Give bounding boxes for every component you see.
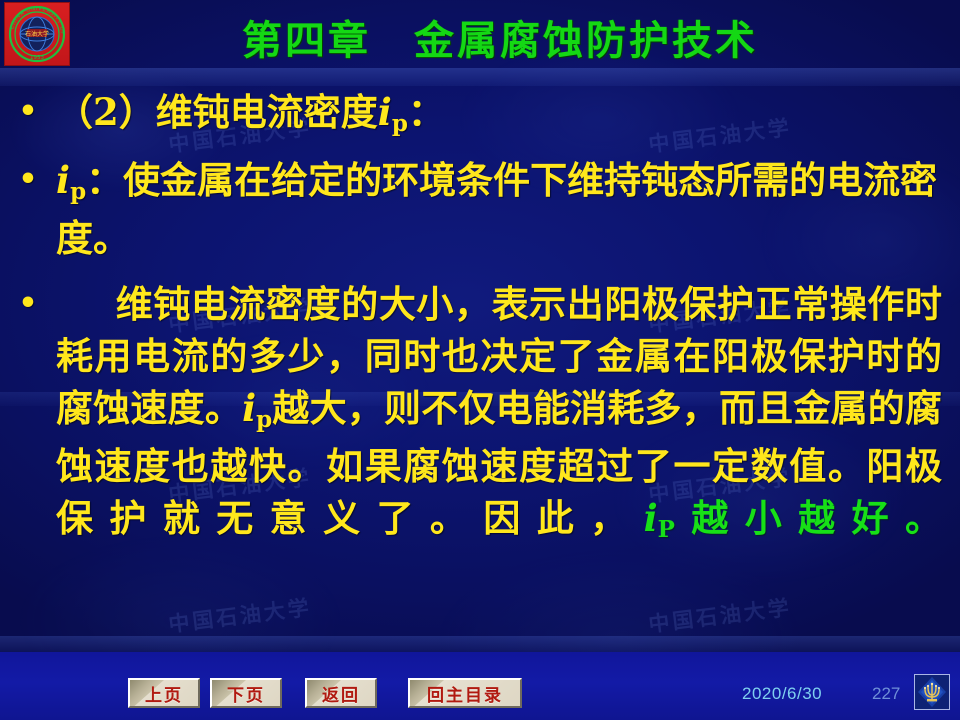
- footer-date: 2020/6/30: [742, 684, 822, 704]
- nav-previous-page-label: 上页: [145, 681, 183, 706]
- slide-body: • （2）维钝电流密度ip： • ip：使金属在给定的环境条件下维持钝态所需的电…: [0, 82, 960, 550]
- bullet-2-colon: ：: [86, 158, 123, 202]
- symbol-ip-1: ip: [378, 90, 408, 134]
- bullet-item-3: • 维钝电流密度的大小，表示出阳极保护正常操作时耗用电流的多少，同时也决定了金属…: [0, 278, 960, 550]
- bullet-marker: •: [0, 154, 56, 206]
- nav-next-page-button[interactable]: 下页: [210, 678, 282, 708]
- bullet-1-suffix: ：: [408, 90, 445, 134]
- bullet-1-prefix: （2）维钝电流密度: [56, 90, 378, 134]
- nav-main-menu-button[interactable]: 回主目录: [408, 678, 522, 708]
- slide-canvas: 中国石油大学 中国石油大学 中国石油大学 中国石油大学 中国石油大学 中国石油大…: [0, 0, 960, 720]
- nav-next-page-label: 下页: [227, 681, 265, 706]
- symbol-i: i: [56, 158, 70, 202]
- symbol-subscript: p: [392, 110, 408, 137]
- nav-main-menu-label: 回主目录: [427, 681, 503, 706]
- bullet-text-1: （2）维钝电流密度ip：: [56, 86, 960, 144]
- symbol-i: i: [644, 496, 658, 540]
- bullet-text-3: 维钝电流密度的大小，表示出阳极保护正常操作时耗用电流的多少，同时也决定了金属在阳…: [56, 278, 960, 550]
- symbol-subscript: p: [256, 406, 272, 433]
- bullet-2-body: 使金属在给定的环境条件下维持钝态所需的电流密度。: [56, 158, 937, 260]
- symbol-subscript: p: [70, 178, 86, 205]
- bullet-item-2: • ip：使金属在给定的环境条件下维持钝态所需的电流密度。: [0, 154, 960, 264]
- footer-page-number: 227: [872, 684, 900, 704]
- nav-previous-page-button[interactable]: 上页: [128, 678, 200, 708]
- bullet-marker: •: [0, 86, 56, 138]
- symbol-i: i: [242, 386, 256, 430]
- nav-back-button[interactable]: 返回: [305, 678, 377, 708]
- bullet-3-highlight: 越小越好。: [675, 496, 942, 540]
- symbol-ip-3a: ip: [242, 386, 272, 430]
- symbol-ip-3b: iP: [644, 496, 675, 540]
- slide-title: 第四章 金属腐蚀防护技术: [0, 8, 960, 66]
- candelabra-icon-glyph: [915, 675, 949, 709]
- bullet-text-2: ip：使金属在给定的环境条件下维持钝态所需的电流密度。: [56, 154, 960, 264]
- nav-back-label: 返回: [322, 681, 360, 706]
- symbol-i: i: [378, 90, 392, 134]
- bullet-item-1: • （2）维钝电流密度ip：: [0, 86, 960, 144]
- candelabra-icon: [914, 674, 950, 710]
- symbol-ip-2: ip: [56, 158, 86, 202]
- symbol-subscript: P: [658, 516, 675, 543]
- bullet-marker: •: [0, 278, 56, 330]
